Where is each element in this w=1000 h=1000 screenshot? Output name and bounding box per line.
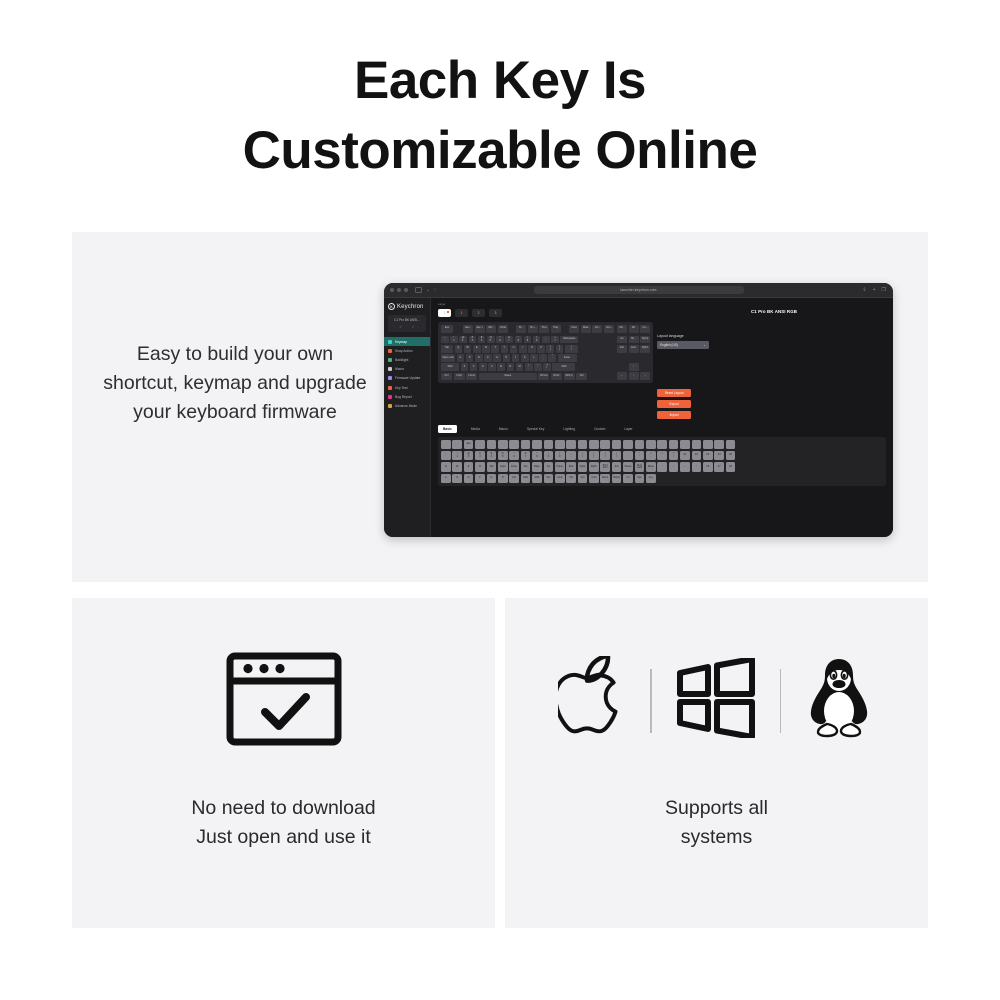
picker-key[interactable]: Cmd	[589, 474, 599, 484]
keycode-picker-grid: Esc	[438, 437, 886, 487]
picker-key[interactable]: Del	[521, 462, 531, 472]
picker-key[interactable]: Opt	[544, 474, 554, 484]
layer-tab-1[interactable]: 1	[455, 309, 468, 317]
sidebar-icon[interactable]	[415, 287, 422, 293]
sidebar-item-keymap[interactable]: Keymap	[384, 337, 430, 346]
layout-action-buttons: Reset Layout Export Import	[657, 389, 735, 419]
key-comma[interactable]: <,	[525, 363, 533, 371]
check-icon: ✓	[399, 325, 402, 329]
picker-key[interactable]: |\	[612, 451, 622, 461]
device-name: C1 Pro BK ANSI...	[390, 318, 424, 322]
key-insert[interactable]: Ins	[617, 336, 627, 344]
sidebar-nav: Keymap Snap Action Backlight Macro	[384, 337, 430, 411]
key-backspace[interactable]: Backspace	[560, 336, 578, 344]
app-sidebar: K Keychron C1 Pro BK ANSI... ✓ ✓ Keymap	[384, 298, 431, 537]
picker-key[interactable]: F7	[714, 462, 724, 472]
picker-key[interactable]	[544, 440, 554, 450]
key-1[interactable]: !1	[450, 336, 458, 344]
layout-language-label: Layout language	[657, 334, 735, 338]
key-gap	[563, 325, 568, 333]
key-f5[interactable]: Br -	[516, 325, 526, 333]
key-tilde[interactable]: ~`	[441, 336, 449, 344]
tab-special-key[interactable]: Special Key	[522, 425, 549, 433]
key-z[interactable]: Z	[461, 363, 469, 371]
picker-key[interactable]: MO(1)	[612, 474, 622, 484]
key-h[interactable]: H	[503, 354, 511, 362]
picker-key[interactable]: Scrl	[612, 462, 622, 472]
picker-key[interactable]: F	[475, 474, 485, 484]
picker-key[interactable]: !1	[452, 451, 462, 461]
picker-key[interactable]: {[	[589, 451, 599, 461]
sidebar-item-label: Firmware Update	[395, 376, 420, 380]
picker-key[interactable]: →	[692, 462, 702, 472]
advance-mode-icon	[388, 404, 392, 408]
close-icon[interactable]	[390, 288, 394, 292]
picker-key[interactable]: $4	[487, 451, 497, 461]
picker-key[interactable]: Q	[441, 462, 451, 472]
headline-line-2: Customizable Online	[0, 116, 1000, 186]
picker-key[interactable]: ↓	[669, 462, 679, 472]
key-f10[interactable]: Mute	[581, 325, 591, 333]
picker-key[interactable]: PrintScrn	[600, 462, 610, 472]
key-o[interactable]: O	[528, 345, 536, 353]
windows-logo-icon	[674, 658, 758, 743]
picker-key[interactable]: PgUp	[578, 462, 588, 472]
key-d[interactable]: D	[475, 354, 483, 362]
picker-key[interactable]: Fn	[623, 474, 633, 484]
picker-key[interactable]: Ins	[544, 462, 554, 472]
tab-macro[interactable]: Macro	[494, 425, 513, 433]
url-bar[interactable]: launcher.keychron.com	[534, 286, 744, 294]
key-rcmd[interactable]: RCmd	[538, 373, 549, 381]
key-f2[interactable]: Esc +	[475, 325, 485, 333]
launcher-app-window: ⌄ ‹ launcher.keychron.com ⇪ + ❐ K Keychr…	[384, 283, 893, 537]
key-8[interactable]: *8	[515, 336, 523, 344]
picker-row: Q W E R Tab Caps Enter Del Bksp Ins Home…	[441, 462, 883, 472]
key-arrow-right[interactable]: →	[640, 372, 650, 380]
apple-logo-icon	[558, 656, 628, 745]
caption-line-1: No need to download	[191, 797, 375, 819]
key-s[interactable]: S	[466, 354, 474, 362]
picker-key[interactable]: ~`	[441, 451, 451, 461]
device-title: C1 Pro BK ANSI RGB	[751, 309, 797, 314]
picker-key[interactable]: +=	[578, 451, 588, 461]
picker-key[interactable]: Shift	[521, 474, 531, 484]
plus-icon[interactable]: +	[873, 288, 876, 293]
tab-media[interactable]: Media	[466, 425, 485, 433]
key-w[interactable]: W	[464, 345, 472, 353]
picker-key[interactable]: Opt	[578, 474, 588, 484]
key-end[interactable]: End	[629, 345, 639, 353]
picker-key[interactable]	[726, 440, 736, 450]
keychron-mark-icon: K	[388, 303, 395, 310]
sidebar-item-label: Snap Action	[395, 349, 413, 353]
picker-key[interactable]: W	[452, 462, 462, 472]
key-test-icon	[388, 386, 392, 390]
key-rbracket[interactable]: }]	[556, 345, 564, 353]
picker-key[interactable]: H	[498, 474, 508, 484]
keyboard-row-bottom: Ctrl LOpt LCmd Space RCmd ROpt MO(1) Ctr…	[441, 373, 614, 381]
key-f6[interactable]: Br +	[528, 325, 538, 333]
key-e[interactable]: E	[473, 345, 481, 353]
key-arrow-left[interactable]: ←	[617, 372, 627, 380]
picker-key[interactable]: F6	[703, 462, 713, 472]
key-pagedown[interactable]: PgDn	[640, 345, 650, 353]
picker-key[interactable]: _-	[566, 451, 576, 461]
picker-key[interactable]: F3	[703, 451, 713, 461]
key-slash[interactable]: ?/	[543, 363, 551, 371]
keyboard-and-panel: Esc Esc - Esc + MC... LPad Br - Br + Pre…	[438, 322, 886, 419]
key-rshift[interactable]: Shift	[552, 363, 575, 371]
picker-key[interactable]: A	[441, 474, 451, 484]
key-backslash[interactable]: |\	[565, 345, 578, 353]
chrome-actions: ⇪ + ❐	[862, 288, 886, 293]
picker-key[interactable]: Shift	[532, 474, 542, 484]
key-arrow-up[interactable]: ↑	[629, 363, 639, 371]
key-6[interactable]: ^6	[496, 336, 504, 344]
key-2[interactable]: @2	[459, 336, 467, 344]
key-5[interactable]: %5	[487, 336, 495, 344]
key-3[interactable]: #3	[469, 336, 477, 344]
picker-key[interactable]: Ctrl	[566, 474, 576, 484]
key-mo1[interactable]: MO(1)	[564, 373, 575, 381]
divider	[650, 669, 652, 733]
sidebar-item-bug-report[interactable]: Bug Report	[384, 392, 430, 401]
sidebar-item-label: Bug Report	[395, 395, 412, 399]
device-status-icons: ✓ ✓	[390, 325, 424, 329]
nav-row-4: ↑	[617, 363, 650, 371]
picker-key[interactable]: ←	[680, 462, 690, 472]
key-space[interactable]: Space	[479, 373, 537, 381]
back-icon[interactable]: ‹	[434, 287, 436, 293]
key-b[interactable]: B	[497, 363, 505, 371]
key-x[interactable]: X	[470, 363, 478, 371]
layer-label: Layer	[438, 302, 446, 306]
brand-logo: K Keychron	[384, 303, 430, 315]
picker-key[interactable]	[566, 440, 576, 450]
key-p[interactable]: P	[537, 345, 545, 353]
firmware-update-icon	[388, 376, 392, 380]
picker-key[interactable]	[612, 440, 622, 450]
layout-language-select[interactable]: English (US) ⌄	[657, 341, 709, 349]
sidebar-item-snap-action[interactable]: Snap Action	[384, 346, 430, 355]
key-delete[interactable]: Del	[617, 345, 627, 353]
app-main: Layer 0 1 2 3 C1 Pro BK ANSI RGB Esc	[431, 298, 893, 537]
key-esc[interactable]: Esc	[441, 325, 453, 333]
feature-left-caption: No need to download Just open and use it	[72, 794, 495, 852]
layer-tab-2[interactable]: 2	[472, 309, 485, 317]
layer-tabs: 0 1 2 3	[438, 309, 886, 317]
picker-key[interactable]	[441, 440, 451, 450]
reset-layout-button[interactable]: Reset Layout	[657, 389, 691, 397]
feature-card-no-download: No need to download Just open and use it	[72, 598, 495, 928]
key-c[interactable]: C	[479, 363, 487, 371]
picker-key[interactable]: Home	[555, 462, 565, 472]
key-7[interactable]: &7	[505, 336, 513, 344]
key-0[interactable]: )0	[533, 336, 541, 344]
keyboard-row-home: Caps Lock A S D F G H J K L :;	[441, 354, 614, 362]
picker-key[interactable]: &7	[521, 451, 531, 461]
picker-key[interactable]: (9	[544, 451, 554, 461]
headline-line-1: Each Key Is	[354, 51, 646, 110]
picker-key[interactable]: Pause	[623, 462, 633, 472]
copy-tabs-icon[interactable]: ❐	[882, 288, 886, 293]
key-lctrl[interactable]: Ctrl	[441, 373, 452, 381]
picker-key[interactable]	[589, 440, 599, 450]
picker-key[interactable]: R	[475, 462, 485, 472]
tab-basic[interactable]: Basic	[438, 425, 457, 433]
backlight-icon	[388, 358, 392, 362]
picker-key[interactable]: "'	[635, 451, 645, 461]
picker-key[interactable]: Bksp	[532, 462, 542, 472]
snap-action-icon	[388, 349, 392, 353]
keyboard-layout[interactable]: Esc Esc - Esc + MC... LPad Br - Br + Pre…	[438, 322, 653, 383]
page-title: Each Key Is Customizable Online	[0, 46, 1000, 186]
key-n[interactable]: N	[507, 363, 515, 371]
picker-key[interactable]: }]	[600, 451, 610, 461]
brand-name: Keychron	[397, 304, 424, 310]
check-icon: ✓	[412, 325, 415, 329]
keyboard-row-shift: Shift Z X C V B N M <, >. ?/	[441, 363, 614, 371]
key-r[interactable]: R	[482, 345, 490, 353]
key-period[interactable]: >.	[534, 363, 542, 371]
picker-key[interactable]: E	[464, 462, 474, 472]
key-scrolllock[interactable]: Scl	[629, 325, 639, 333]
picker-key[interactable]	[669, 440, 679, 450]
picker-key[interactable]: Esc	[464, 440, 474, 450]
key-f3[interactable]: MC...	[486, 325, 496, 333]
picker-key[interactable]: <,	[646, 451, 656, 461]
key-ropt[interactable]: ROpt	[551, 373, 562, 381]
picker-key[interactable]: D	[464, 474, 474, 484]
picker-key[interactable]	[509, 440, 519, 450]
export-button[interactable]: Export	[657, 400, 691, 408]
connected-device-card[interactable]: C1 Pro BK ANSI... ✓ ✓	[388, 315, 426, 332]
picker-key[interactable]	[578, 440, 588, 450]
macro-icon	[388, 367, 392, 371]
layer-tab-0[interactable]: 0	[438, 309, 451, 317]
picker-key[interactable]: F1	[680, 451, 690, 461]
picker-key[interactable]: End	[566, 462, 576, 472]
picker-key[interactable]	[623, 440, 633, 450]
picker-row: A S D F G H Ctrl Shift Shift Opt Cmd Ctr…	[441, 474, 883, 484]
key-gap	[640, 363, 650, 371]
keymap-icon	[388, 340, 392, 344]
key-v[interactable]: V	[488, 363, 496, 371]
picker-key[interactable]: >.	[657, 451, 667, 461]
feature-card-supports-all-systems: Supports all systems	[505, 598, 928, 928]
sidebar-item-label: Keymap	[395, 340, 407, 344]
picker-key[interactable]: F5	[726, 451, 736, 461]
picker-key[interactable]: Enter	[509, 462, 519, 472]
key-screenshot[interactable]: SS...	[617, 325, 627, 333]
key-j[interactable]: J	[512, 354, 520, 362]
nav-row-1: SS... Scl Ins...	[617, 325, 650, 333]
key-minus[interactable]: _-	[542, 336, 550, 344]
picker-key[interactable]: Menu	[646, 462, 656, 472]
key-f1[interactable]: Esc -	[463, 325, 473, 333]
picker-key[interactable]	[635, 440, 645, 450]
share-icon[interactable]: ⇪	[862, 288, 866, 293]
caption-line-2: Just open and use it	[196, 826, 371, 848]
picker-key[interactable]	[498, 440, 508, 450]
sidebar-item-label: Advance Mode	[395, 404, 417, 408]
picker-key[interactable]	[692, 440, 702, 450]
key-f[interactable]: F	[484, 354, 492, 362]
picker-key[interactable]: %5	[498, 451, 508, 461]
key-gap	[617, 363, 627, 371]
picker-row: ~` !1 @2 #3 $4 %5 ^6 &7 *8 (9 )0 _- += {…	[441, 451, 883, 461]
tab-lighting[interactable]: Lighting	[558, 425, 580, 433]
key-4[interactable]: $4	[478, 336, 486, 344]
picker-key[interactable]: Any	[646, 474, 656, 484]
key-f4[interactable]: LPad	[498, 325, 508, 333]
browser-chrome: ⌄ ‹ launcher.keychron.com ⇪ + ❐	[384, 283, 893, 298]
key-gap	[510, 325, 515, 333]
picker-key[interactable]: Menu	[600, 474, 610, 484]
key-enter[interactable]: Enter	[558, 354, 577, 362]
picker-key[interactable]: *8	[532, 451, 542, 461]
traffic-lights[interactable]	[390, 288, 408, 292]
minimize-icon[interactable]	[397, 288, 401, 292]
chevron-down-icon[interactable]: ⌄	[426, 287, 430, 293]
tab-custom[interactable]: Custom	[589, 425, 610, 433]
key-f11[interactable]: Vol -	[592, 325, 602, 333]
keyboard-row-numbers: ~` !1 @2 #3 $4 %5 ^6 &7 *8 (9 )0	[441, 336, 614, 344]
key-9[interactable]: (9	[524, 336, 532, 344]
key-gap	[455, 325, 462, 333]
picker-key[interactable]: Spc	[635, 474, 645, 484]
feature-right-caption: Supports all systems	[505, 794, 928, 852]
key-a[interactable]: A	[457, 354, 465, 362]
zoom-icon[interactable]	[404, 288, 408, 292]
feature-top-copy: Easy to build your own shortcut, keymap …	[100, 340, 370, 427]
os-logos	[505, 656, 928, 745]
sidebar-item-backlight[interactable]: Backlight	[384, 355, 430, 364]
keycode-category-tabs: Basic Media Macro Special Key Lighting C…	[438, 425, 886, 433]
key-lopt[interactable]: LOpt	[454, 373, 465, 381]
picker-row: Esc	[441, 440, 883, 450]
keyboard-row-fn: Esc Esc - Esc + MC... LPad Br - Br + Pre…	[441, 325, 614, 333]
key-l[interactable]: L	[530, 354, 538, 362]
divider	[780, 669, 782, 733]
key-pause[interactable]: Ins...	[640, 325, 650, 333]
key-quote[interactable]: "'	[548, 354, 556, 362]
picker-key[interactable]: S	[452, 474, 462, 484]
picker-key[interactable]	[521, 440, 531, 450]
tab-layer[interactable]: Layer	[619, 425, 637, 433]
picker-key[interactable]	[703, 440, 713, 450]
key-i[interactable]: I	[519, 345, 527, 353]
sidebar-item-label: Key Test	[395, 386, 408, 390]
keyboard-nav-cluster: SS... Scl Ins... Ins Ho... PgUp Del	[617, 325, 650, 380]
picker-key[interactable]: G	[487, 474, 497, 484]
key-t[interactable]: T	[491, 345, 499, 353]
key-rctrl[interactable]: Ctrl	[576, 373, 587, 381]
key-capslock[interactable]: Caps Lock	[441, 354, 455, 362]
key-lshift[interactable]: Shift	[441, 363, 459, 371]
chevron-down-icon: ⌄	[703, 343, 706, 347]
key-q[interactable]: Q	[455, 345, 463, 353]
nav-row-5: ← ↓ →	[617, 372, 650, 380]
picker-key[interactable]: Tab	[487, 462, 497, 472]
key-equal[interactable]: +=	[551, 336, 559, 344]
layout-language-value: English (US)	[660, 343, 678, 347]
picker-key[interactable]: NumLock	[635, 462, 645, 472]
picker-key[interactable]: F8	[726, 462, 736, 472]
key-f9[interactable]: Next	[569, 325, 579, 333]
linux-tux-icon	[803, 656, 875, 745]
picker-key[interactable]	[555, 440, 565, 450]
key-y[interactable]: Y	[501, 345, 509, 353]
picker-key[interactable]: Ctrl	[509, 474, 519, 484]
sidebar-item-label: Backlight	[395, 358, 408, 362]
picker-key[interactable]	[487, 440, 497, 450]
layout-options-panel: Layout language English (US) ⌄ Reset Lay…	[657, 322, 735, 419]
picker-key[interactable]: F2	[692, 451, 702, 461]
picker-key[interactable]: ↑	[657, 462, 667, 472]
sidebar-item-key-test[interactable]: Key Test	[384, 383, 430, 392]
key-lbracket[interactable]: {[	[546, 345, 554, 353]
picker-key[interactable]: Cmd	[555, 474, 565, 484]
picker-key[interactable]: @2	[464, 451, 474, 461]
key-f7[interactable]: Prev	[539, 325, 549, 333]
picker-key[interactable]: F4	[714, 451, 724, 461]
picker-key[interactable]: PgDn	[589, 462, 599, 472]
key-pageup[interactable]: PgUp	[640, 336, 650, 344]
picker-key[interactable]	[646, 440, 656, 450]
key-home[interactable]: Ho...	[629, 336, 639, 344]
key-lcmd[interactable]: LCmd	[466, 373, 477, 381]
picker-key[interactable]	[714, 440, 724, 450]
picker-key[interactable]: #3	[475, 451, 485, 461]
key-g[interactable]: G	[493, 354, 501, 362]
page-root: Each Key Is Customizable Online Easy to …	[0, 0, 1000, 1000]
layer-tab-3[interactable]: 3	[489, 309, 502, 317]
picker-key[interactable]: :;	[623, 451, 633, 461]
nav-row-2: Ins Ho... PgUp	[617, 336, 650, 344]
key-tab[interactable]: Tab	[441, 345, 453, 353]
key-f12[interactable]: Vol +	[604, 325, 614, 333]
sidebar-item-firmware-update[interactable]: Firmware Update	[384, 374, 430, 383]
import-button[interactable]: Import	[657, 411, 691, 419]
key-arrow-down[interactable]: ↓	[629, 372, 639, 380]
picker-key[interactable]	[600, 440, 610, 450]
key-m[interactable]: M	[516, 363, 524, 371]
picker-key[interactable]	[452, 440, 462, 450]
picker-key[interactable]	[475, 440, 485, 450]
browser-check-icon	[72, 650, 495, 748]
key-f8[interactable]: Play	[551, 325, 561, 333]
app-body: K Keychron C1 Pro BK ANSI... ✓ ✓ Keymap	[384, 298, 893, 537]
picker-key[interactable]	[657, 440, 667, 450]
url-text: launcher.keychron.com	[620, 288, 656, 292]
bug-report-icon	[388, 395, 392, 399]
key-k[interactable]: K	[521, 354, 529, 362]
sidebar-item-advance-mode[interactable]: Advance Mode	[384, 401, 430, 410]
picker-key[interactable]	[680, 440, 690, 450]
picker-key[interactable]: ?/	[669, 451, 679, 461]
picker-key[interactable]	[532, 440, 542, 450]
picker-key[interactable]: )0	[555, 451, 565, 461]
keyboard-row-qwerty: Tab Q W E R T Y U I O P	[441, 345, 614, 353]
picker-key[interactable]: Caps	[498, 462, 508, 472]
caption-line-1: Supports all	[665, 797, 768, 819]
key-u[interactable]: U	[510, 345, 518, 353]
key-semicolon[interactable]: :;	[539, 354, 547, 362]
picker-key[interactable]: ^6	[509, 451, 519, 461]
sidebar-item-macro[interactable]: Macro	[384, 365, 430, 374]
